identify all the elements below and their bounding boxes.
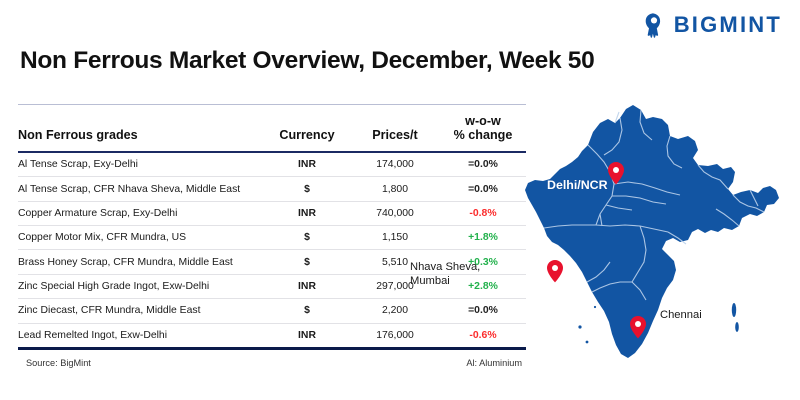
- cell-currency: $: [264, 226, 350, 250]
- map-pin-nhava-sheva-mumbai[interactable]: [547, 260, 563, 282]
- cell-grade: Zinc Diecast, CFR Mundra, Middle East: [18, 299, 264, 323]
- cell-currency: $: [264, 299, 350, 323]
- source-note: Source: BigMint: [26, 358, 91, 368]
- column-header-price: Prices/t: [350, 105, 440, 152]
- brand-wordmark: BIGMINT: [674, 14, 782, 36]
- market-overview-table: Non Ferrous grades Currency Prices/t w-o…: [18, 104, 526, 368]
- cell-price: 174,000: [350, 152, 440, 177]
- table-row: Al Tense Scrap, CFR Nhava Sheva, Middle …: [18, 177, 526, 201]
- bigmint-mark-icon: [641, 12, 667, 38]
- cell-currency: $: [264, 250, 350, 274]
- map-label-chennai: Chennai: [660, 308, 702, 322]
- cell-price: 1,800: [350, 177, 440, 201]
- cell-grade: Copper Armature Scrap, Exy-Delhi: [18, 201, 264, 225]
- prices-table: Non Ferrous grades Currency Prices/t w-o…: [18, 104, 526, 347]
- cell-currency: INR: [264, 152, 350, 177]
- cell-price: 2,200: [350, 299, 440, 323]
- column-header-currency: Currency: [264, 105, 350, 152]
- cell-grade: Zinc Special High Grade Ingot, Exw-Delhi: [18, 274, 264, 298]
- cell-grade: Brass Honey Scrap, CFR Mundra, Middle Ea…: [18, 250, 264, 274]
- table-bottom-rule: [18, 347, 526, 350]
- india-landmass: [525, 105, 779, 358]
- cell-currency: INR: [264, 274, 350, 298]
- cell-grade: Al Tense Scrap, Exy-Delhi: [18, 152, 264, 177]
- table-row: Copper Armature Scrap, Exy-DelhiINR740,0…: [18, 201, 526, 225]
- table-row: Zinc Diecast, CFR Mundra, Middle East$2,…: [18, 299, 526, 323]
- cell-grade: Lead Remelted Ingot, Exw-Delhi: [18, 323, 264, 347]
- cell-currency: $: [264, 177, 350, 201]
- map-label-delhi: Delhi/NCR: [547, 178, 608, 194]
- table-row: Al Tense Scrap, Exy-DelhiINR174,000=0.0%: [18, 152, 526, 177]
- table-row: Lead Remelted Ingot, Exw-DelhiINR176,000…: [18, 323, 526, 347]
- cell-currency: INR: [264, 323, 350, 347]
- cell-price: 740,000: [350, 201, 440, 225]
- brand-logo: BIGMINT: [641, 12, 782, 38]
- table-body: Al Tense Scrap, Exy-DelhiINR174,000=0.0%…: [18, 152, 526, 347]
- cell-currency: INR: [264, 201, 350, 225]
- map-label-nhava-sheva-mumbai: Nhava Sheva, Mumbai: [410, 260, 480, 289]
- table-header: Non Ferrous grades Currency Prices/t w-o…: [18, 105, 526, 152]
- column-header-grade: Non Ferrous grades: [18, 105, 264, 152]
- page-title: Non Ferrous Market Overview, December, W…: [20, 47, 594, 75]
- cell-price: 176,000: [350, 323, 440, 347]
- table-row: Copper Motor Mix, CFR Mundra, US$1,150+1…: [18, 226, 526, 250]
- india-map-svg: [492, 92, 800, 400]
- cell-grade: Al Tense Scrap, CFR Nhava Sheva, Middle …: [18, 177, 264, 201]
- cell-grade: Copper Motor Mix, CFR Mundra, US: [18, 226, 264, 250]
- india-map: Delhi/NCR Nhava Sheva, Mumbai Chennai: [492, 92, 800, 400]
- cell-price: 1,150: [350, 226, 440, 250]
- table-footer: Source: BigMint Al: Aluminium: [18, 358, 526, 368]
- table-header-row: Non Ferrous grades Currency Prices/t w-o…: [18, 105, 526, 152]
